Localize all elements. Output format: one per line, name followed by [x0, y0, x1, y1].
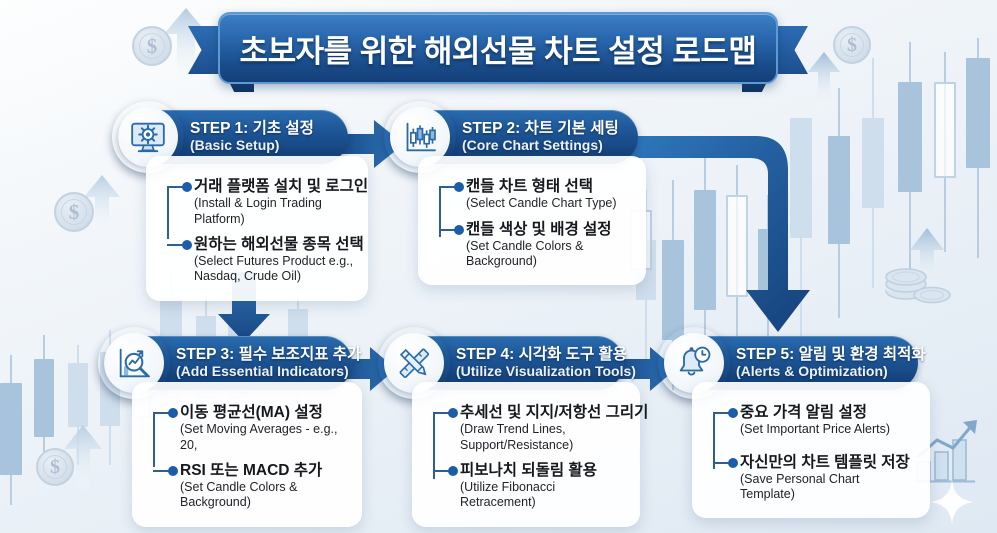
candlestick-decor [0, 355, 22, 505]
step-5-bullet-2: 자신만의 차트 템플릿 저장 (Save Personal Chart Temp… [740, 454, 916, 503]
up-arrow-icon [806, 52, 842, 110]
bullet-dot-icon [728, 408, 738, 418]
step-5-subtitle: (Alerts & Optimization) [736, 364, 926, 380]
step-1-title: STEP 1: 기초 설정 [190, 120, 314, 137]
monitor-gear-icon [128, 117, 168, 157]
arrow-step2-to-step5 [628, 130, 818, 340]
candlestick-decor [862, 58, 884, 288]
step-1-subtitle: (Basic Setup) [190, 138, 314, 154]
candlestick-decor [68, 345, 88, 465]
candlestick-decor [966, 38, 990, 258]
step-4-title: STEP 4: 시각화 도구 활용 [456, 346, 636, 363]
bullet-dot-icon [454, 182, 464, 192]
candlestick-decor [898, 42, 922, 282]
step-4-subtitle: (Utilize Visualization Tools) [456, 364, 636, 380]
bullet-dot-icon [168, 408, 178, 418]
bullet-dot-icon [728, 458, 738, 468]
candlestick-chart-icon [400, 117, 440, 157]
title-ribbon: 초보자를 위한 해외선물 차트 설정 로드맵 [188, 12, 808, 88]
step-1-body: 거래 플랫폼 설치 및 로그인 (Install & Login Trading… [146, 156, 368, 301]
step-3-subtitle: (Add Essential Indicators) [176, 364, 361, 380]
coin-symbol: $ [69, 200, 80, 225]
up-arrow-icon [82, 175, 122, 241]
coin-dollar-icon: $ [54, 192, 94, 232]
step-5-title: STEP 5: 알림 및 환경 최적화 [736, 346, 926, 363]
magnifier-chart-icon [114, 343, 154, 383]
step-3-bullet-2: RSI 또는 MACD 추가 (Set Candle Colors & Back… [180, 462, 348, 511]
title-banner: 초보자를 위한 해외선물 차트 설정 로드맵 [218, 12, 778, 84]
step-5-bullet-1: 중요 가격 알림 설정 (Set Important Price Alerts) [740, 404, 916, 438]
coin-dollar-icon: $ [132, 26, 172, 66]
bullet-dot-icon [448, 466, 458, 476]
coin-dollar-icon: $ [36, 448, 74, 486]
coin-symbol: $ [50, 456, 60, 479]
step-2-body: 캔들 차트 형태 선택 (Select Candle Chart Type) 캔… [418, 156, 646, 285]
pencil-ruler-icon [394, 343, 434, 383]
up-arrow-icon [62, 425, 104, 495]
step-3-title: STEP 3: 필수 보조지표 추가 [176, 346, 361, 363]
bullet-dot-icon [168, 466, 178, 476]
step-2-bullet-2: 캔들 색상 및 배경 설정 (Set Candle Colors & Backg… [466, 221, 632, 270]
step-4-bullet-2: 피보나치 되돌림 활용 (Utilize Fibonacci Retraceme… [460, 462, 626, 511]
bullet-dot-icon [182, 240, 192, 250]
step-2-bullet-1: 캔들 차트 형태 선택 (Select Candle Chart Type) [466, 178, 632, 212]
step-4-body: 추세선 및 지지/저항선 그리기 (Draw Trend Lines, Supp… [412, 382, 640, 527]
step-3-body: 이동 평균선(MA) 설정 (Set Moving Averages - e.g… [132, 382, 362, 527]
coin-symbol: $ [147, 34, 158, 59]
coin-symbol: $ [847, 34, 857, 57]
infographic-root: $ $ $ $ [0, 0, 997, 533]
coin-stack-icon [880, 255, 952, 307]
candlestick-decor [828, 88, 850, 318]
page-title: 초보자를 위한 해외선물 차트 설정 로드맵 [240, 26, 757, 71]
bullet-dot-icon [448, 408, 458, 418]
sparkle-icon [928, 478, 976, 526]
bell-clock-icon [674, 343, 714, 383]
step-2-subtitle: (Core Chart Settings) [462, 138, 619, 154]
step-3-bullet-1: 이동 평균선(MA) 설정 (Set Moving Averages - e.g… [180, 404, 348, 453]
step-1-bullet-1: 거래 플랫폼 설치 및 로그인 (Install & Login Trading… [194, 178, 354, 227]
bullet-dot-icon [454, 225, 464, 235]
step-5-body: 중요 가격 알림 설정 (Set Important Price Alerts)… [692, 382, 930, 518]
bullet-dot-icon [182, 182, 192, 192]
step-2-title: STEP 2: 차트 기본 세팅 [462, 120, 619, 137]
up-arrow-icon [908, 228, 946, 288]
candlestick-decor [34, 335, 54, 480]
step-1-bullet-2: 원하는 해외선물 종목 선택 (Select Futures Product e… [194, 236, 354, 285]
coin-dollar-icon: $ [833, 26, 871, 64]
step-4-bullet-1: 추세선 및 지지/저항선 그리기 (Draw Trend Lines, Supp… [460, 404, 626, 453]
candlestick-decor [934, 52, 956, 252]
